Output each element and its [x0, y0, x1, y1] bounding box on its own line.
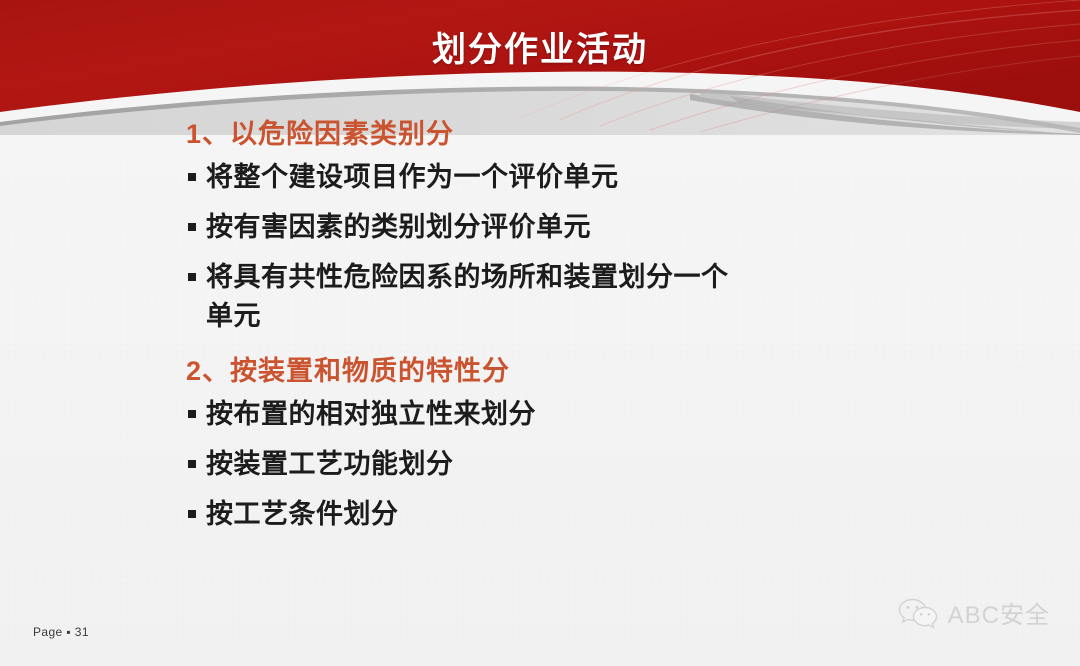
section-1: 1、以危险因素类别分 将整个建设项目作为一个评价单元 按有害因素的类别划分评价单…	[186, 118, 966, 335]
watermark-text: ABC安全	[948, 595, 1050, 630]
list-item-text: 将具有共性危险因系的场所和装置划分一个单元	[206, 262, 729, 330]
list-item: 将整个建设项目作为一个评价单元	[186, 158, 736, 196]
list-item-text: 按布置的相对独立性来划分	[206, 399, 536, 429]
list-item: 按装置工艺功能划分	[186, 445, 736, 483]
section-2-bullet-list: 按布置的相对独立性来划分 按装置工艺功能划分 按工艺条件划分	[186, 395, 966, 534]
slide-body: 1、以危险因素类别分 将整个建设项目作为一个评价单元 按有害因素的类别划分评价单…	[186, 118, 966, 546]
bullet-square-icon	[188, 273, 196, 281]
section-2-heading: 2、按装置和物质的特性分	[186, 355, 966, 389]
section-1-heading: 1、以危险因素类别分	[186, 118, 966, 152]
wechat-logo-icon	[897, 596, 941, 630]
list-item-text: 按工艺条件划分	[206, 499, 399, 529]
slide: 划分作业活动 1、以危险因素类别分 将整个建设项目作为一个评价单元 按有害因素的…	[0, 0, 1080, 666]
list-item: 将具有共性危险因系的场所和装置划分一个单元	[186, 258, 736, 335]
slide-title: 划分作业活动	[0, 22, 1080, 71]
bullet-square-icon	[188, 410, 196, 418]
bullet-square-icon	[188, 223, 196, 231]
list-item: 按工艺条件划分	[186, 495, 736, 533]
list-item-text: 按有害因素的类别划分评价单元	[206, 212, 591, 242]
watermark: ABC安全	[897, 595, 1050, 630]
list-item-text: 按装置工艺功能划分	[206, 449, 454, 479]
slide-header-banner: 划分作业活动	[0, 0, 1080, 135]
bullet-square-icon	[188, 460, 196, 468]
section-2: 2、按装置和物质的特性分 按布置的相对独立性来划分 按装置工艺功能划分 按工艺条…	[186, 355, 966, 534]
page-number: Page ▪ 31	[33, 625, 89, 639]
list-item: 按布置的相对独立性来划分	[186, 395, 736, 433]
bullet-square-icon	[188, 510, 196, 518]
bullet-square-icon	[188, 173, 196, 181]
list-item: 按有害因素的类别划分评价单元	[186, 208, 736, 246]
list-item-text: 将整个建设项目作为一个评价单元	[206, 162, 619, 192]
section-1-bullet-list: 将整个建设项目作为一个评价单元 按有害因素的类别划分评价单元 将具有共性危险因系…	[186, 158, 966, 335]
